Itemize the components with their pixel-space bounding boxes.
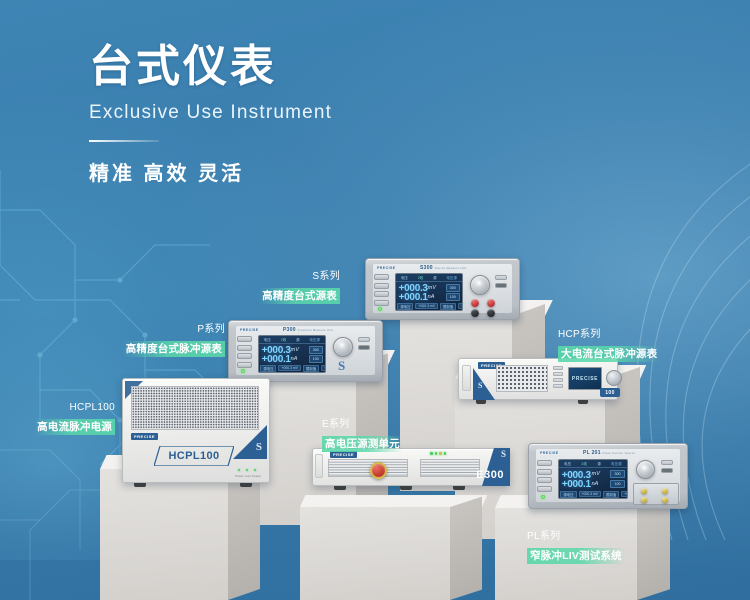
s-range-upper-value: 300 <box>450 286 456 290</box>
hcpl100-brand-tag: PRECISE <box>131 433 158 440</box>
hcp-button-2[interactable] <box>553 372 563 376</box>
s-softkey-column[interactable] <box>374 274 389 306</box>
p-secondary-unit: nA <box>291 356 298 362</box>
hcp-rack-handle <box>462 365 471 391</box>
hcp-model-badge: 100 <box>600 388 620 397</box>
pl-display-header: 电压 2线 源 电压源 <box>559 460 627 468</box>
s-hdr-2: 2线 <box>418 275 424 280</box>
pl-range-upper: 300 <box>610 470 625 478</box>
p-power-button[interactable] <box>358 337 370 342</box>
hcp-button-4[interactable] <box>553 384 563 388</box>
p-footer-right-value: +000.3 nA <box>321 365 326 371</box>
p-primary-unit: mV <box>291 347 299 353</box>
s-terminal-force-lo[interactable] <box>471 309 479 317</box>
p-display-header: 电压 2线 源 电压源 <box>259 336 325 344</box>
label-e-series-name: E系列 <box>322 418 442 432</box>
s-model-sub: Source Measure Unit <box>435 266 467 270</box>
p-hdr-1: 电压 <box>264 337 271 342</box>
pl-model-text: PL 201 <box>583 450 601 456</box>
pl-rotary-knob[interactable] <box>636 460 655 479</box>
s-display-footer: 源电压 +000.3 mV 限制值 +000.3 nA <box>397 304 460 309</box>
hcp-display: PRECISE <box>568 367 602 390</box>
product-p-series[interactable]: PRECISE P300 Precision Measure Unit 电压 2… <box>228 320 383 382</box>
p-range-upper-value: 300 <box>313 348 319 352</box>
s-brand-label: PRECISE <box>377 266 396 270</box>
pl-model-label: PL 201 Pulse Current Source <box>583 450 635 456</box>
pl-range-lower-value: 100 <box>614 482 620 486</box>
e300-model-badge: E300 <box>476 469 504 481</box>
hcp-button-1[interactable] <box>553 366 563 370</box>
hcpl100-led-caption: Power Limit Output <box>235 475 261 478</box>
p-range-upper: 300 <box>309 346 324 354</box>
s-softkey-4[interactable] <box>374 300 389 306</box>
p-secondary-value: +000.1 <box>262 354 291 365</box>
s-footer-left-label: 源电压 <box>397 303 413 310</box>
hcpl100-led-1 <box>238 469 241 472</box>
pl-brand-label: PRECISE <box>540 451 559 455</box>
pl-range-lower: 100 <box>610 480 625 488</box>
s-range-lower-value: 100 <box>450 295 456 299</box>
pl-model-sub: Pulse Current Source <box>603 451 636 455</box>
product-hcp-series[interactable]: S PRECISE PRECISE 100 <box>458 358 618 400</box>
p-model-text: P300 <box>283 327 296 333</box>
product-pl-series[interactable]: PRECISE PL 201 Pulse Current Source 电压 2… <box>528 443 688 509</box>
banner-background: 台式仪表 Exclusive Use Instrument 精准 高效 灵活 <box>0 0 750 600</box>
e300-foot-right <box>453 486 465 490</box>
pl-terminal-4[interactable] <box>662 497 668 503</box>
pl-primary-unit: mV <box>592 471 600 477</box>
pl-secondary-value: +000.1 <box>562 479 591 490</box>
pl-usb-port[interactable] <box>661 468 673 473</box>
pl-terminal-panel <box>633 483 679 505</box>
label-s-series-name: S系列 <box>230 270 340 284</box>
p-softkey-1[interactable] <box>237 336 252 342</box>
pl-footer-left-value: +000.3 mV <box>579 491 602 497</box>
s-secondary-value: +000.1 <box>399 292 428 303</box>
hcpl100-brand-logo-glyph: S <box>256 441 262 453</box>
s-terminal-sense-lo[interactable] <box>487 309 495 317</box>
p-power-led <box>241 369 245 373</box>
label-hcp-series-desc: 大电流台式脉冲源表 <box>558 346 660 362</box>
s-softkey-2[interactable] <box>374 283 389 289</box>
product-hcpl100[interactable]: S PRECISE HCPL100 Power Limit Output <box>122 378 270 483</box>
label-p-series: P系列 高精度台式脉冲源表 <box>95 323 225 358</box>
hcp-button-3[interactable] <box>553 378 563 382</box>
pl-hdr-4: 电压源 <box>611 461 622 466</box>
p-usb-port[interactable] <box>358 345 370 350</box>
s-terminal-sense-hi[interactable] <box>487 299 495 307</box>
pl-softkey-2[interactable] <box>537 469 552 475</box>
p-footer-right-label: 限制值 <box>303 365 319 372</box>
pl-display-footer: 源电压 +000.3 mV 限制值 +000.3 nA <box>560 491 625 497</box>
s-softkey-1[interactable] <box>374 274 389 280</box>
pl-display-screen[interactable]: 电压 2线 源 电压源 +000.3 mV +000.1 nA 300 100 … <box>558 459 628 499</box>
s-usb-port[interactable] <box>495 283 507 288</box>
pl-terminal-2[interactable] <box>662 488 668 494</box>
hcpl100-led-2 <box>246 469 249 472</box>
label-p-series-name: P系列 <box>95 323 225 337</box>
hcpl100-foot-left <box>134 483 146 487</box>
s-model-text: S300 <box>420 265 433 271</box>
label-e-series: E系列 高电压源测单元 <box>322 418 442 453</box>
product-e-series[interactable]: PRECISE S E300 <box>312 448 510 486</box>
e300-brand-logo-glyph: S <box>501 449 506 459</box>
hcp-foot-right <box>578 400 588 404</box>
e300-foot-mid <box>400 486 412 490</box>
s-primary-unit: mV <box>428 285 436 291</box>
s-terminal-force-hi[interactable] <box>471 299 479 307</box>
brand-logo-glyph: S <box>478 381 482 390</box>
s-power-led <box>378 307 382 311</box>
s-hdr-1: 电压 <box>401 275 408 280</box>
s-rotary-knob[interactable] <box>470 275 490 295</box>
pl-terminal-3[interactable] <box>641 497 647 503</box>
p-rotary-knob[interactable] <box>333 337 353 357</box>
e300-led-4 <box>444 452 447 455</box>
s-display-screen[interactable]: 电压 2线 源 电压源 +000.3 mV +000.1 nA 300 100 … <box>395 273 463 311</box>
label-s-series: S系列 高精度台式源表 <box>230 270 340 305</box>
p-softkey-3[interactable] <box>237 353 252 359</box>
hcp-foot-left <box>476 400 486 404</box>
p-range-lower: 100 <box>309 355 324 363</box>
pl-power-button[interactable] <box>661 460 673 465</box>
title-divider <box>89 140 159 142</box>
pl-hdr-2: 2线 <box>581 461 587 466</box>
label-hcpl100: HCPL100 高电流脉冲电源 <box>0 401 115 436</box>
pl-hdr-1: 电压 <box>564 461 571 466</box>
label-pl-series-desc: 窄脉冲LIV测试系统 <box>527 548 625 564</box>
p-footer-left-label: 源电压 <box>260 365 276 372</box>
pl-softkey-1[interactable] <box>537 460 552 466</box>
e300-vent-left <box>328 459 408 477</box>
hcp-button-group[interactable] <box>553 366 563 388</box>
hcpl100-led-3 <box>254 469 257 472</box>
label-hcp-series-name: HCP系列 <box>558 328 688 342</box>
p-brand-logo-glyph: S <box>338 358 345 374</box>
pl-footer-right-value: +000.3 nA <box>621 491 628 497</box>
p-hdr-4: 电压源 <box>309 337 320 342</box>
hcp-vent-grille <box>496 365 548 392</box>
p-display-screen[interactable]: 电压 2线 源 电压源 +000.3 mV +000.1 nA 300 100 … <box>258 335 326 373</box>
hcp-knob[interactable] <box>606 370 622 386</box>
s-power-button[interactable] <box>495 275 507 280</box>
pl-softkey-3[interactable] <box>537 477 552 483</box>
p-hdr-3: 源 <box>296 337 300 342</box>
pedestal-e-series <box>300 495 500 600</box>
pl-secondary-unit: nA <box>592 481 599 487</box>
page-subtitle: Exclusive Use Instrument <box>89 102 332 124</box>
hcpl100-foot-right <box>240 483 252 487</box>
pl-footer-left-label: 源电压 <box>560 491 576 498</box>
label-e-series-desc: 高电压源测单元 <box>322 436 403 452</box>
label-pl-series: PL系列 窄脉冲LIV测试系统 <box>527 530 657 565</box>
e300-emergency-stop-button[interactable] <box>370 462 387 479</box>
s-display-header: 电压 2线 源 电压源 <box>396 274 462 282</box>
s-range-lower: 100 <box>446 293 461 301</box>
page-title: 台式仪表 <box>89 44 332 90</box>
p-softkey-4[interactable] <box>237 362 252 368</box>
p-model-label: P300 Precision Measure Unit <box>283 327 333 333</box>
product-s-series[interactable]: PRECISE S300 Source Measure Unit 电压 2线 源… <box>365 258 520 320</box>
pl-range-upper-value: 300 <box>614 472 620 476</box>
p-softkey-column[interactable] <box>237 336 252 368</box>
label-p-series-desc: 高精度台式脉冲源表 <box>123 341 225 357</box>
pl-power-led <box>541 495 545 499</box>
pl-softkey-column[interactable] <box>537 460 552 492</box>
p-brand-label: PRECISE <box>240 328 259 332</box>
p-model-sub: Precision Measure Unit <box>298 328 334 332</box>
e300-rack-handle <box>315 454 323 478</box>
pl-terminal-1[interactable] <box>641 488 647 494</box>
label-pl-series-name: PL系列 <box>527 530 657 544</box>
s-secondary-unit: nA <box>428 294 435 300</box>
label-s-series-desc: 高精度台式源表 <box>259 288 340 304</box>
label-hcpl100-desc: 高电流脉冲电源 <box>34 419 115 435</box>
s-range-upper: 300 <box>446 284 461 292</box>
hcpl100-vent-grille <box>131 386 259 430</box>
s-hdr-4: 电压源 <box>446 275 457 280</box>
pl-softkey-4[interactable] <box>537 486 552 492</box>
p-range-lower-value: 100 <box>313 357 319 361</box>
pl-hdr-3: 源 <box>597 461 601 466</box>
s-footer-right-value: +000.3 nA <box>458 303 463 309</box>
label-hcp-series: HCP系列 大电流台式脉冲源表 <box>558 328 688 363</box>
pl-footer-right-label: 限制值 <box>603 491 619 498</box>
s-footer-right-label: 限制值 <box>440 303 456 310</box>
s-softkey-3[interactable] <box>374 291 389 297</box>
p-softkey-2[interactable] <box>237 345 252 351</box>
headline-block: 台式仪表 Exclusive Use Instrument 精准 高效 灵活 <box>89 44 332 186</box>
hcpl100-model-badge: HCPL100 <box>158 450 230 462</box>
s-model-label: S300 Source Measure Unit <box>420 265 467 271</box>
p-display-footer: 源电压 +000.3 mV 限制值 +000.3 nA <box>260 366 323 371</box>
e300-foot-left <box>334 486 346 490</box>
p-hdr-2: 2线 <box>281 337 287 342</box>
label-hcpl100-name: HCPL100 <box>0 401 115 415</box>
p-footer-left-value: +000.3 mV <box>278 365 301 371</box>
page-tagline: 精准 高效 灵活 <box>89 157 332 186</box>
s-hdr-3: 源 <box>433 275 437 280</box>
s-footer-left-value: +000.3 mV <box>415 303 438 309</box>
